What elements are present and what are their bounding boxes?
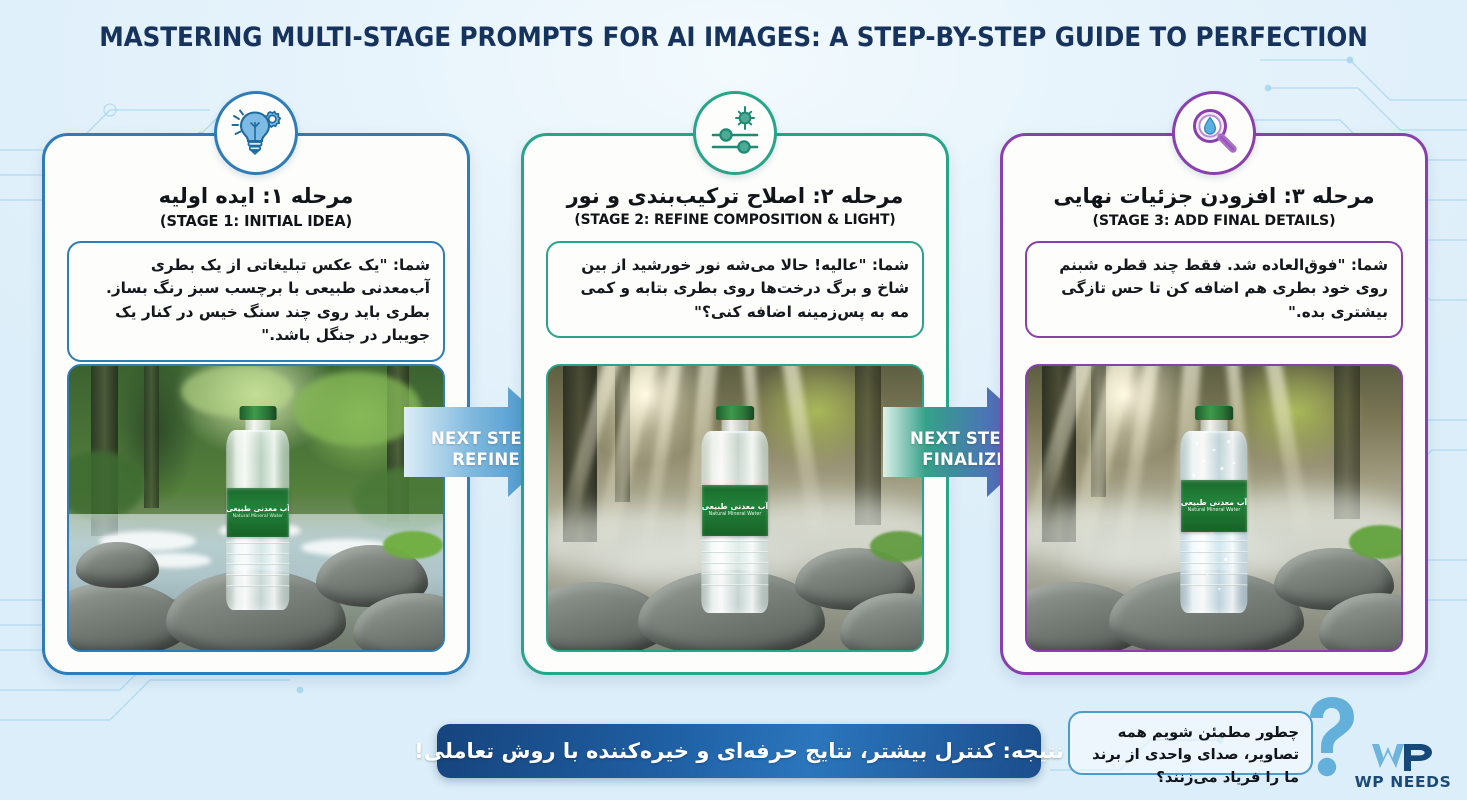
- stage-3-title-en: (STAGE 3: ADD FINAL DETAILS): [1017, 212, 1411, 229]
- stage-3-image: آب معدنی طبیعی Natural Mineral Water: [1025, 364, 1403, 652]
- page-title: MASTERING MULTI-STAGE PROMPTS FOR AI IMA…: [51, 22, 1415, 53]
- stage-3-prompt-text: شما: "فوق‌العاده شد. فقط چند قطره شبنم ر…: [1025, 241, 1403, 338]
- conclusion-text: نتیجه: کنترل بیشتر، نتایج حرفه‌ای و خیره…: [414, 739, 1064, 763]
- stage-1-title-fa: مرحله ۱: ایده اولیه: [53, 184, 459, 209]
- wp-logo-mark: [1344, 740, 1462, 774]
- brand-logo: WP NEEDS: [1344, 740, 1462, 791]
- stage-card-3: مرحله ۳: افزودن جزئیات نهایی (STAGE 3: A…: [1000, 133, 1428, 675]
- stage-2-heading: مرحله ۲: اصلاح ترکیب‌بندی و نور (STAGE 2…: [532, 184, 938, 228]
- stage-1-prompt-text: شما: "یک عکس تبلیغاتی از یک بطری آب‌معدن…: [67, 241, 445, 362]
- brand-name: WP NEEDS: [1344, 773, 1462, 791]
- stage-3-heading: مرحله ۳: افزودن جزئیات نهایی (STAGE 3: A…: [1011, 184, 1417, 229]
- stage-3-badge: [1172, 91, 1256, 175]
- stage-2-image: آب معدنی طبیعی Natural Mineral Water: [546, 364, 924, 652]
- stage-2-title-fa: مرحله ۲: اصلاح ترکیب‌بندی و نور: [532, 184, 938, 209]
- closing-question-box: چطور مطمئن شویم همه تصاویر، صدای واحدی ا…: [1068, 711, 1313, 775]
- stage-2-bottle: آب معدنی طبیعی Natural Mineral Water: [701, 406, 768, 613]
- stage-1-title-en: (STAGE 1: INITIAL IDEA): [59, 212, 453, 230]
- stage-1-bottle: آب معدنی طبیعی Natural Mineral Water: [226, 406, 290, 610]
- stage-3-title-fa: مرحله ۳: افزودن جزئیات نهایی: [1011, 184, 1417, 209]
- stage-2-prompt-text: شما: "عالیه! حالا می‌شه نور خورشید از بی…: [546, 241, 924, 338]
- sun-sliders-icon: [709, 105, 761, 161]
- stage-1-heading: مرحله ۱: ایده اولیه (STAGE 1: INITIAL ID…: [53, 184, 459, 230]
- stage-1-image: آب معدنی طبیعی Natural Mineral Water: [67, 364, 445, 652]
- stage-1-badge: [214, 91, 298, 175]
- bottle-label-fa: آب معدنی طبیعی: [702, 503, 768, 511]
- stage-3-bottle: آب معدنی طبیعی Natural Mineral Water: [1180, 406, 1247, 613]
- stage-2-title-en: (STAGE 2: REFINE COMPOSITION & LIGHT): [538, 212, 932, 228]
- bottle-label-fa: آب معدنی طبیعی: [227, 505, 289, 513]
- conclusion-banner: نتیجه: کنترل بیشتر، نتایج حرفه‌ای و خیره…: [437, 724, 1041, 778]
- bottle-label-en: Natural Mineral Water: [233, 515, 283, 520]
- bottle-label-fa: آب معدنی طبیعی: [1181, 499, 1247, 507]
- stage-2-badge: [693, 91, 777, 175]
- magnifier-droplet-icon: [1188, 105, 1240, 161]
- lightbulb-gear-icon: [229, 104, 283, 162]
- bottle-label-en: Natural Mineral Water: [1188, 509, 1241, 514]
- bottle-label-en: Natural Mineral Water: [709, 513, 762, 518]
